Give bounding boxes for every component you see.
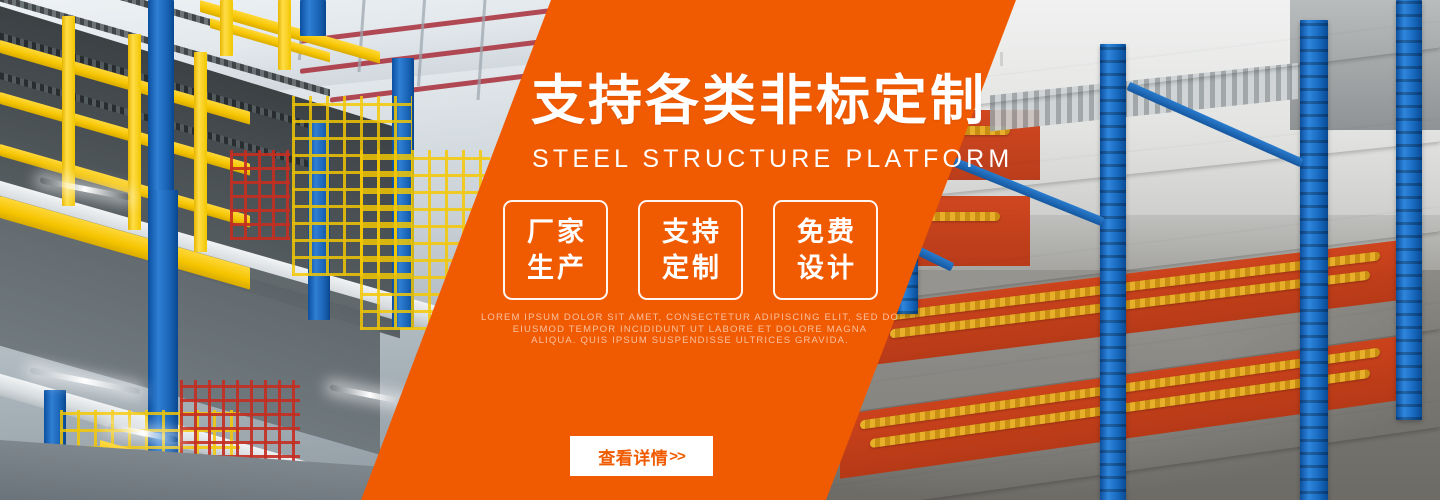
- badge-line-1: 厂家: [524, 214, 587, 250]
- badge-line-1: 免费: [794, 214, 857, 250]
- feature-badges: 厂家 生产 支持 定制 免费 设计: [503, 200, 878, 300]
- description-line-3: ALIQUA. QUIS IPSUM SUSPENDISSE ULTRICES …: [440, 335, 940, 347]
- headline: 支持各类非标定制: [531, 74, 987, 128]
- badge-free-design: 免费 设计: [773, 200, 878, 300]
- banner-content: 支持各类非标定制 STEEL STRUCTURE PLATFORM 厂家 生产 …: [0, 0, 1440, 500]
- badge-manufacturer: 厂家 生产: [503, 200, 608, 300]
- view-details-button[interactable]: 查看详情 >>: [570, 436, 713, 476]
- double-chevron-right-icon: >>: [669, 448, 685, 465]
- badge-line-1: 支持: [659, 214, 722, 250]
- description-line-2: EIUSMOD TEMPOR INCIDIDUNT UT LABORE ET D…: [440, 324, 940, 336]
- badge-line-2: 设计: [794, 250, 857, 286]
- view-details-label: 查看详情: [598, 444, 668, 469]
- badge-customization: 支持 定制: [638, 200, 743, 300]
- badge-line-2: 定制: [659, 250, 722, 286]
- promo-banner: 支持各类非标定制 STEEL STRUCTURE PLATFORM 厂家 生产 …: [0, 0, 1440, 500]
- badge-line-2: 生产: [524, 250, 587, 286]
- description-text: LOREM IPSUM DOLOR SIT AMET, CONSECTETUR …: [440, 312, 940, 347]
- description-line-1: LOREM IPSUM DOLOR SIT AMET, CONSECTETUR …: [440, 312, 940, 324]
- subtitle: STEEL STRUCTURE PLATFORM: [532, 143, 1013, 176]
